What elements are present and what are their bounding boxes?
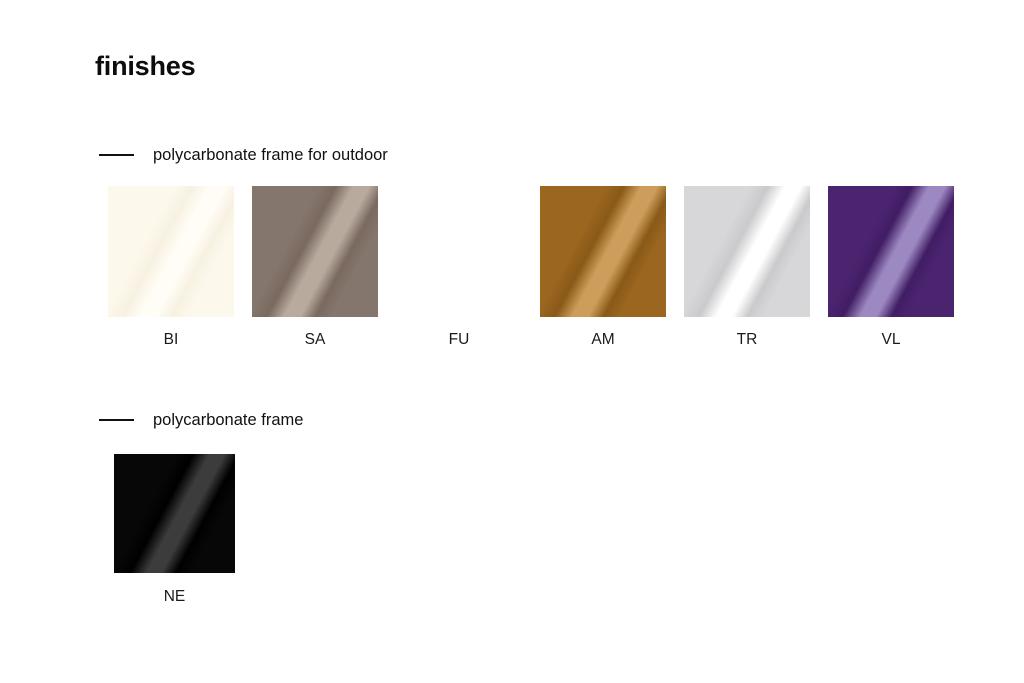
swatch-cell[interactable]: TR (684, 186, 810, 348)
swatch-label: TR (737, 332, 758, 348)
section-header-outdoor: polycarbonate frame for outdoor (99, 147, 388, 164)
gloss-overlay (828, 186, 954, 317)
swatch-label: SA (305, 332, 326, 348)
gloss-overlay (252, 186, 378, 317)
swatch-grid-standard: NE (114, 454, 235, 605)
swatch-chip-sa[interactable] (252, 186, 378, 317)
swatch-cell[interactable]: NE (114, 454, 235, 605)
swatch-chip-tr[interactable] (684, 186, 810, 317)
swatch-chip-ne[interactable] (114, 454, 235, 573)
gloss-overlay (540, 186, 666, 317)
gloss-overlay (114, 454, 235, 573)
section-label-outdoor: polycarbonate frame for outdoor (153, 147, 388, 164)
swatch-chip-bi[interactable] (108, 186, 234, 317)
swatch-label: NE (164, 589, 186, 605)
section-label-standard: polycarbonate frame (153, 412, 303, 429)
dash-icon (99, 419, 134, 421)
swatch-cell[interactable]: AM (540, 186, 666, 348)
section-header-standard: polycarbonate frame (99, 412, 303, 429)
page-title: finishes (95, 53, 195, 80)
dash-icon (99, 154, 134, 156)
swatch-label: FU (449, 332, 470, 348)
swatch-grid-outdoor: BI SA FU AM TR (108, 186, 954, 348)
swatch-label: BI (164, 332, 179, 348)
gloss-overlay (684, 186, 810, 317)
finishes-page: finishes polycarbonate frame for outdoor… (0, 0, 1024, 683)
swatch-cell[interactable]: FU (396, 186, 522, 348)
swatch-chip-am[interactable] (540, 186, 666, 317)
swatch-cell[interactable]: SA (252, 186, 378, 348)
swatch-label: AM (591, 332, 614, 348)
swatch-chip-fu[interactable] (396, 186, 522, 317)
gloss-overlay (396, 186, 522, 317)
swatch-label: VL (882, 332, 901, 348)
swatch-chip-vl[interactable] (828, 186, 954, 317)
swatch-cell[interactable]: BI (108, 186, 234, 348)
gloss-overlay (108, 186, 234, 317)
swatch-cell[interactable]: VL (828, 186, 954, 348)
